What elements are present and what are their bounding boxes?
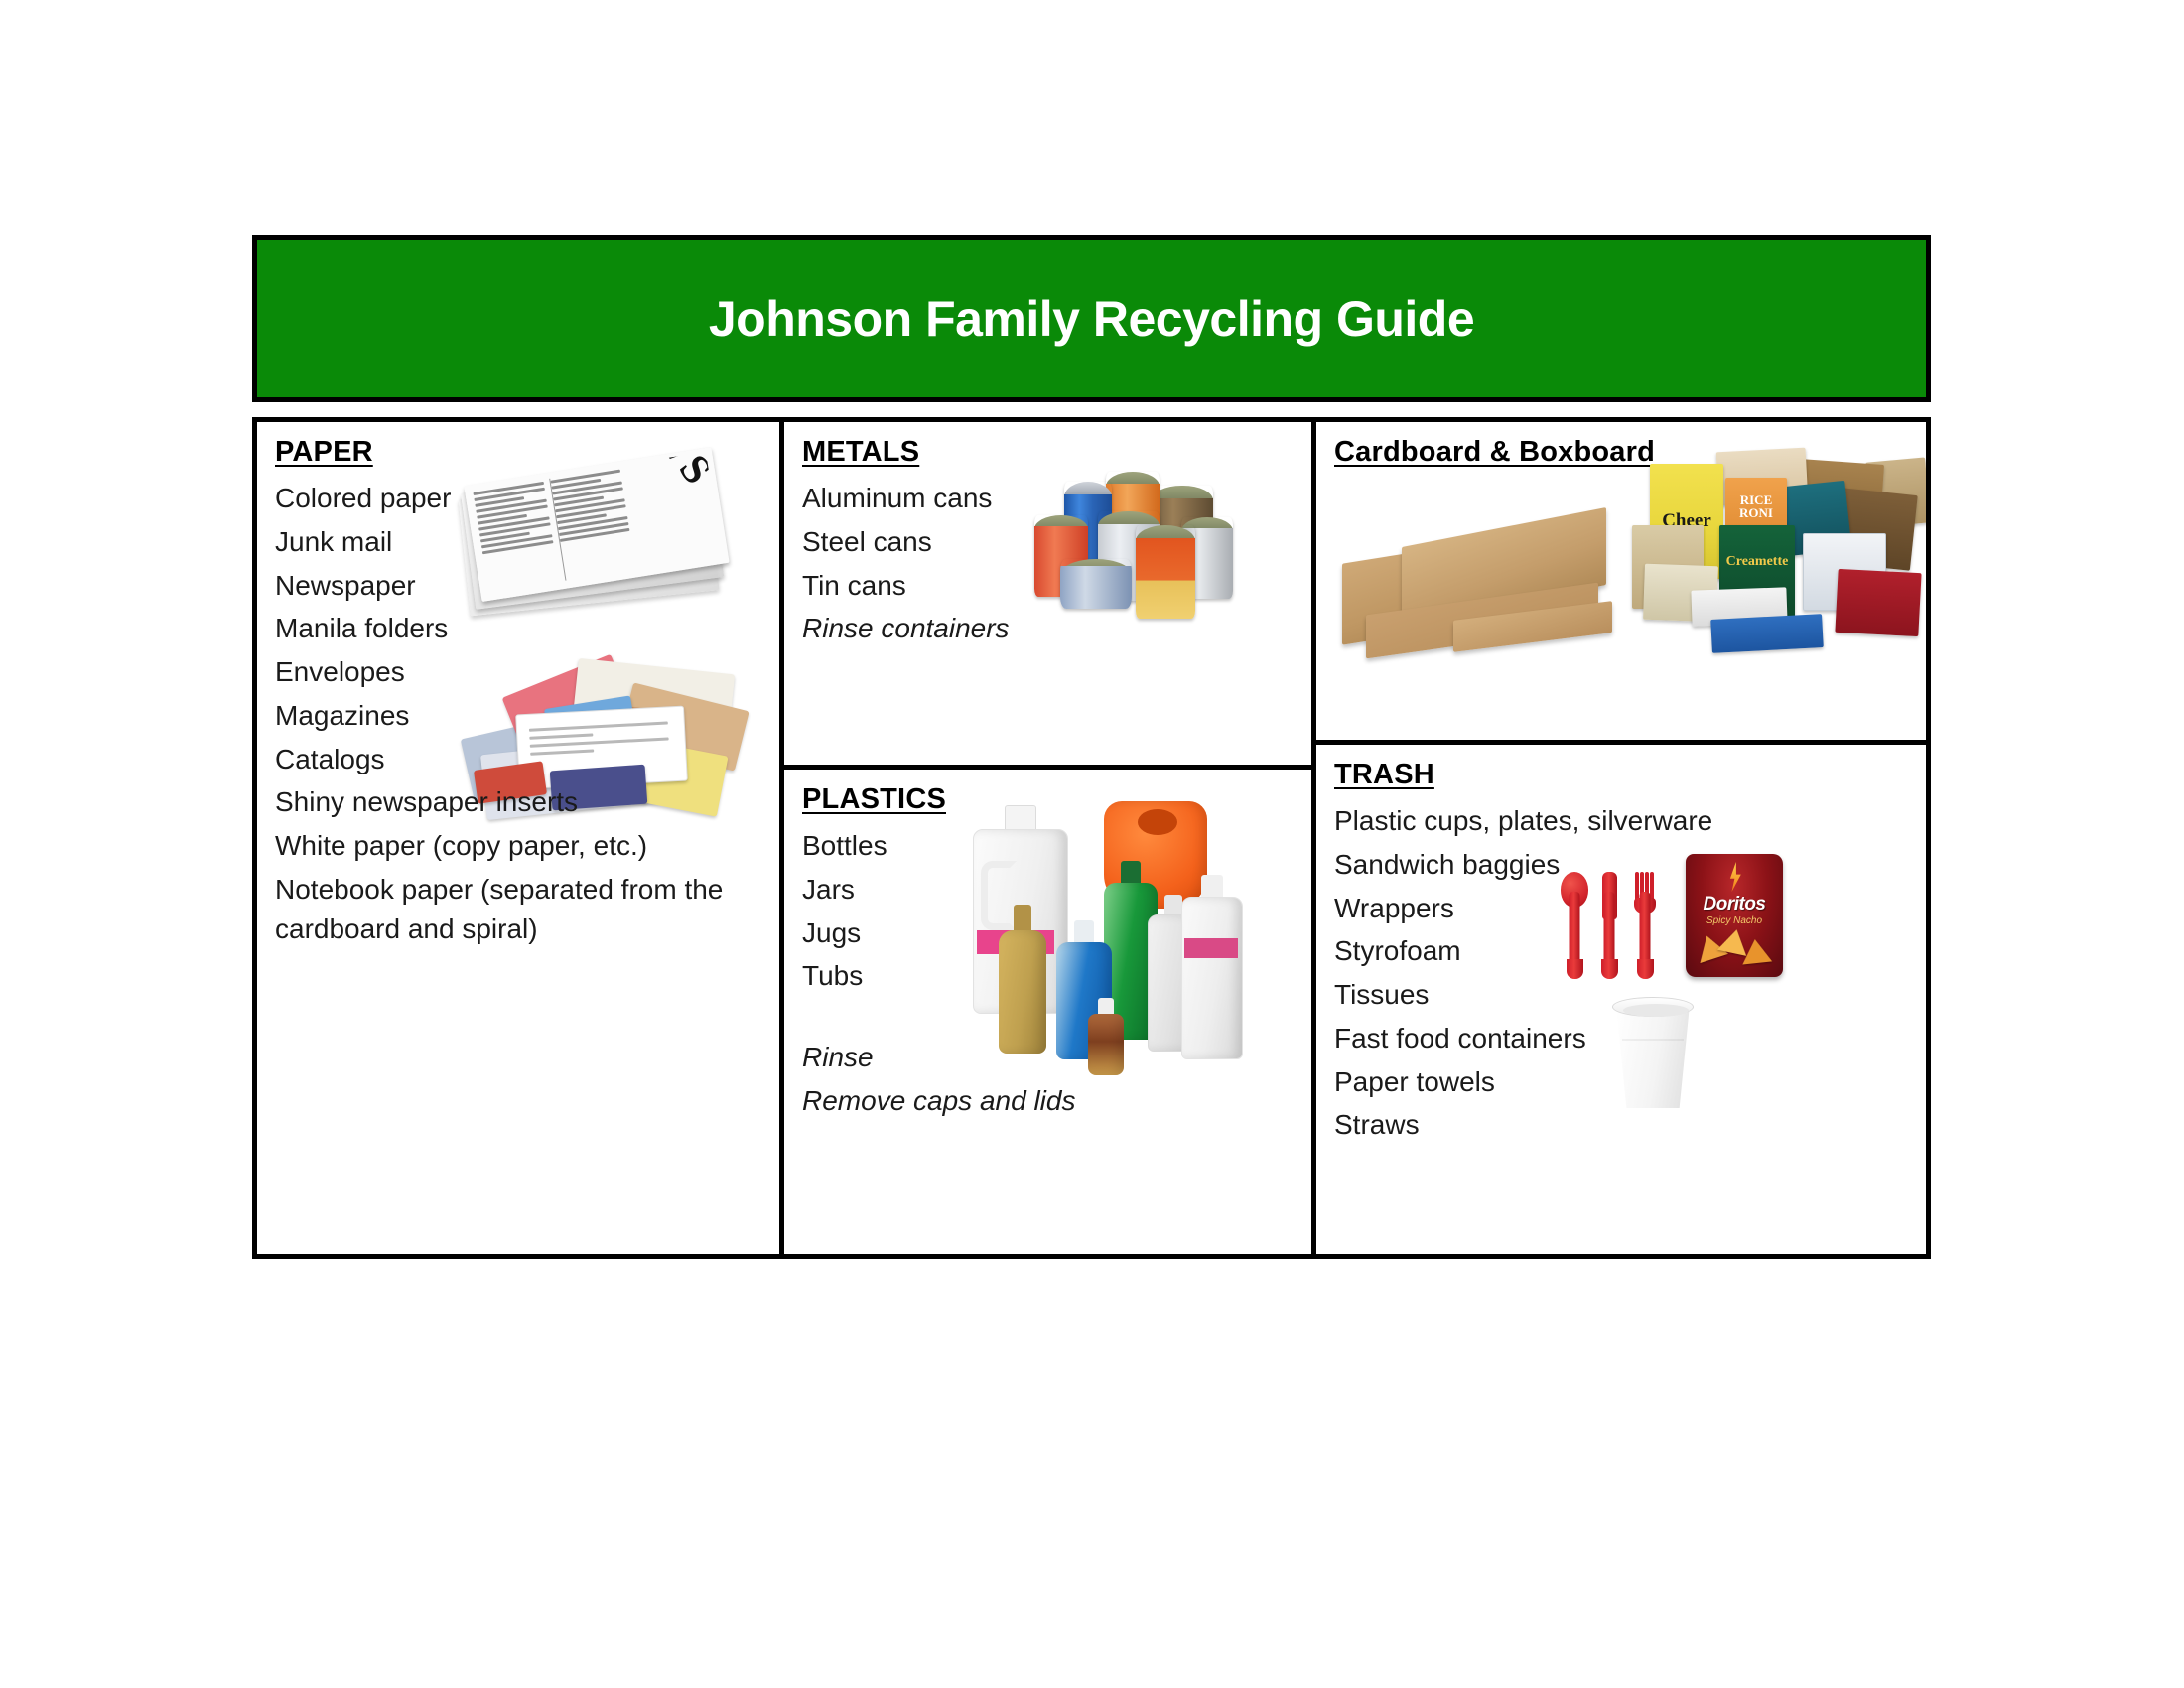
list-item-note: Rinse	[802, 1038, 1311, 1077]
list-item: Steel cans	[802, 522, 1311, 562]
cell-metals: METALS Aluminum cans Steel cans Tin cans…	[784, 422, 1311, 770]
list-item: Catalogs	[275, 740, 779, 779]
trash-item-list: Plastic cups, plates, silverware Sandwic…	[1334, 801, 1926, 1145]
boxboard-pile-photo: Cheer RICE RONI Creamette	[1614, 440, 1926, 688]
paper-item-list: Colored paper Junk mail Newspaper Manila…	[275, 479, 779, 948]
plastics-item-list: Bottles Jars Jugs Tubs Rinse Remove caps…	[802, 826, 1311, 1121]
list-item: Tissues	[1334, 975, 1926, 1015]
cell-plastics: PLASTICS Bottles Jars Jugs Tubs Rinse Re…	[784, 770, 1311, 1254]
list-item: Sandwich baggies	[1334, 845, 1926, 885]
list-item: Magazines	[275, 696, 779, 736]
section-heading-metals: METALS	[802, 436, 919, 469]
section-heading-paper: PAPER	[275, 436, 373, 469]
list-item: Styrofoam	[1334, 931, 1926, 971]
list-spacer	[802, 1000, 1311, 1034]
list-item: White paper (copy paper, etc.)	[275, 826, 779, 866]
cell-trash: TRASH Plastic cups, plates, silverware S…	[1316, 745, 1926, 1254]
list-item: Tin cans	[802, 566, 1311, 606]
list-item: Jugs	[802, 914, 1311, 953]
recycling-guide-page: Johnson Family Recycling Guide PAPER Col…	[0, 0, 2184, 1688]
list-item: Fast food containers	[1334, 1019, 1926, 1058]
list-item-note: Rinse containers	[802, 609, 1311, 648]
list-item: Jars	[802, 870, 1311, 910]
list-item: Plastic cups, plates, silverware	[1334, 801, 1926, 841]
list-item: Wrappers	[1334, 889, 1926, 928]
list-item-note: Remove caps and lids	[802, 1081, 1311, 1121]
metals-item-list: Aluminum cans Steel cans Tin cans Rinse …	[802, 479, 1311, 648]
list-item: Manila folders	[275, 609, 779, 648]
list-item: Straws	[1334, 1105, 1926, 1145]
rice-box-label: RICE RONI	[1725, 493, 1787, 519]
section-heading-cardboard: Cardboard & Boxboard	[1334, 436, 1655, 469]
list-item: Colored paper	[275, 479, 779, 518]
list-item: Tubs	[802, 956, 1311, 996]
column-paper: PAPER Colored paper Junk mail Newspaper …	[257, 422, 784, 1254]
list-item: Junk mail	[275, 522, 779, 562]
page-title: Johnson Family Recycling Guide	[709, 292, 1474, 347]
list-item: Envelopes	[275, 652, 779, 692]
section-heading-trash: TRASH	[1334, 759, 1434, 791]
list-item: Newspaper	[275, 566, 779, 606]
section-heading-plastics: PLASTICS	[802, 783, 946, 816]
list-item: Shiny newspaper inserts	[275, 782, 779, 822]
list-item: Paper towels	[1334, 1062, 1926, 1102]
title-banner: Johnson Family Recycling Guide	[252, 235, 1931, 402]
cell-cardboard: Cardboard & Boxboard Cheer	[1316, 422, 1926, 745]
cereal-box-label: Cheer	[1650, 511, 1723, 530]
column-cardboard-trash: Cardboard & Boxboard Cheer	[1316, 422, 1926, 1254]
list-item: Notebook paper (separated from the cardb…	[275, 870, 771, 949]
cell-paper: PAPER Colored paper Junk mail Newspaper …	[257, 422, 779, 1254]
pasta-box-label: Creamette	[1719, 555, 1795, 569]
recycling-guide-table: PAPER Colored paper Junk mail Newspaper …	[252, 417, 1931, 1259]
list-item: Aluminum cans	[802, 479, 1311, 518]
list-item: Bottles	[802, 826, 1311, 866]
flattened-cardboard-photo	[1336, 493, 1634, 672]
column-metals-plastics: METALS Aluminum cans Steel cans Tin cans…	[784, 422, 1316, 1254]
